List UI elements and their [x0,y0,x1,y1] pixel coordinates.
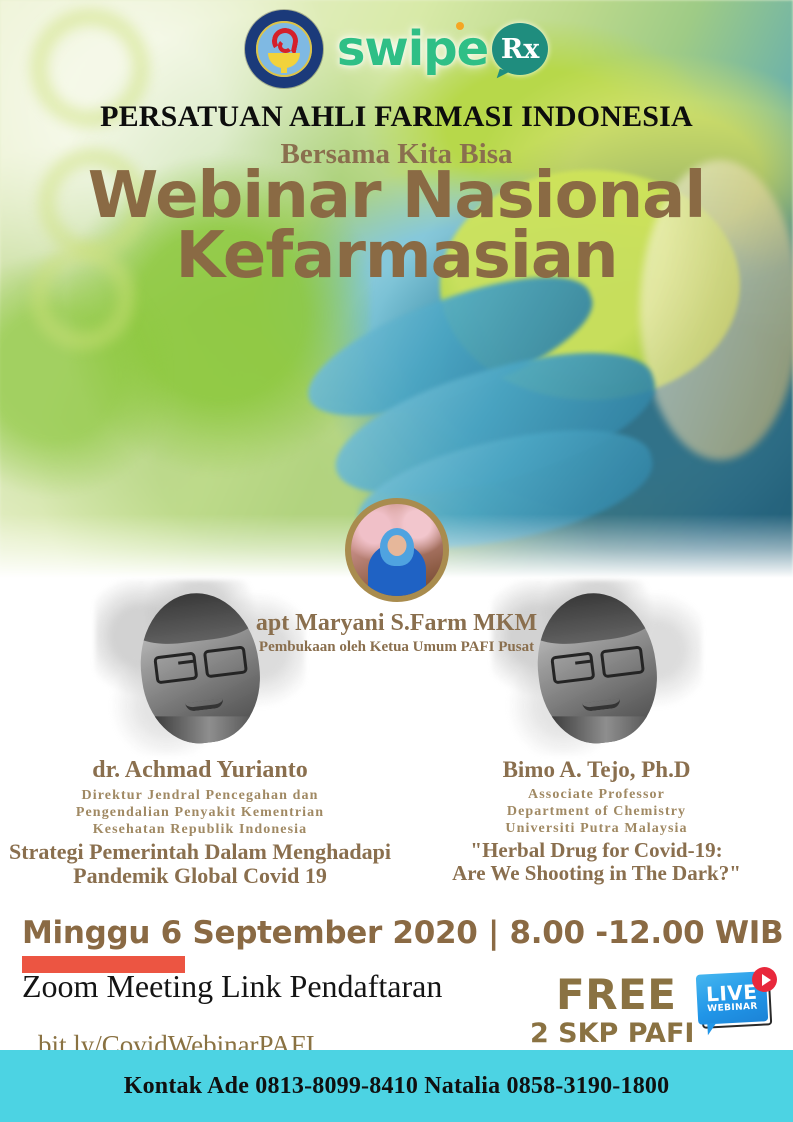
play-icon [752,967,777,992]
credits-label: 2 SKP PAFI [530,1018,694,1049]
logo-row: swipe Rx [0,6,793,92]
speaker-topic-right: "Herbal Drug for Covid-19: Are We Shooti… [400,839,793,885]
play-triangle [762,974,771,986]
speaker-name-left: dr. Achmad Yurianto [0,757,400,784]
speaker-affiliation-right: Associate Professor Department of Chemis… [400,786,793,837]
pafi-logo-icon [245,10,323,88]
avatar-face [387,535,406,556]
avatar [345,498,449,602]
snake-coil-icon [278,39,293,53]
contact-text: Kontak Ade 0813-8099-8410 Natalia 0858-3… [124,1073,670,1100]
center-speaker-role: Pembukaan oleh Ketua Umum PAFI Pusat [0,639,793,656]
live-label: LIVE [706,981,758,1004]
rx-label: Rx [501,36,540,63]
zoom-registration-label: Zoom Meeting Link Pendaftaran [22,968,442,1005]
center-speaker: apt Maryani S.Farm MKM Pembukaan oleh Ke… [0,498,793,656]
event-title-line-2: Kefarmasian [0,226,793,286]
mouth [582,698,621,712]
organization-title: PERSATUAN AHLI FARMASI INDONESIA [0,100,793,134]
swiperx-wordmark: swipe [337,25,488,73]
rx-speech-bubble-icon: Rx [492,23,548,75]
contact-footer: Kontak Ade 0813-8099-8410 Natalia 0858-3… [0,1050,793,1122]
webinar-poster: swipe Rx PERSATUAN AHLI FARMASI INDONESI… [0,0,793,1122]
mouth [185,698,224,712]
live-webinar-badge: LIVE WEBINAR [697,973,775,1035]
swiperx-logo: swipe Rx [337,23,548,75]
webinar-label: WEBINAR [707,1001,758,1014]
center-speaker-name: apt Maryani S.Farm MKM [0,610,793,637]
price-label: FREE [556,970,676,1019]
event-datetime: Minggu 6 September 2020 | 8.00 -12.00 WI… [22,915,783,951]
swiperx-dot-icon [456,22,464,30]
speaker-affiliation-left: Direktur Jendral Pencegahan dan Pengenda… [0,787,400,838]
pafi-logo-inner [256,21,312,77]
speaker-topic-left: Strategi Pemerintah Dalam Menghadapi Pan… [0,840,400,888]
event-title: Webinar Nasional Kefarmasian [0,166,793,286]
speaker-name-right: Bimo A. Tejo, Ph.D [400,757,793,783]
